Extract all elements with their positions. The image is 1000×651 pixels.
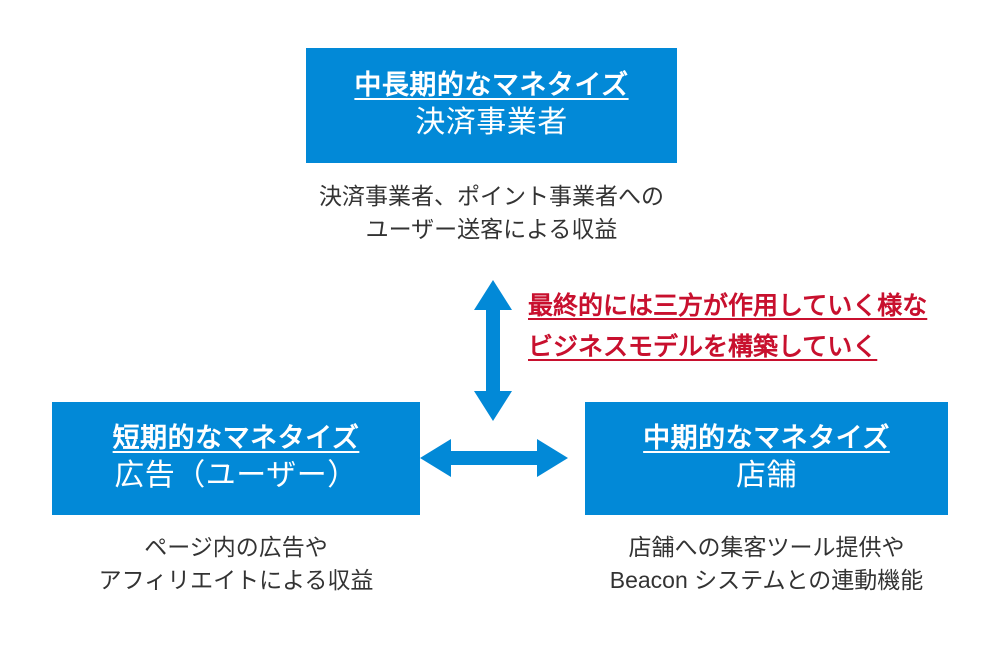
- node-box-right[interactable]: 中期的なマネタイズ 店舗: [585, 402, 948, 515]
- node-box-left[interactable]: 短期的なマネタイズ 広告（ユーザー）: [52, 402, 420, 515]
- annotation-red-note: 最終的には三方が作用していく様な ビジネスモデルを構築していく: [528, 286, 978, 367]
- node-caption-right: 店舗への集客ツール提供や Beacon システムとの連動機能: [570, 531, 963, 598]
- node-subtitle-left: 広告（ユーザー）: [114, 458, 357, 493]
- node-caption-left-line-2: アフィリエイトによる収益: [36, 564, 436, 597]
- node-box-top[interactable]: 中長期的なマネタイズ 決済事業者: [306, 48, 677, 163]
- node-caption-top-line-2: ユーザー送客による収益: [306, 213, 677, 246]
- diagram-canvas: 中長期的なマネタイズ 決済事業者 決済事業者、ポイント事業者への ユーザー送客に…: [0, 0, 1000, 651]
- annotation-line-1: 最終的には三方が作用していく様な: [528, 286, 927, 327]
- node-caption-right-line-1: 店舗への集客ツール提供や: [570, 531, 963, 564]
- annotation-row-1: 最終的には三方が作用していく様な: [528, 286, 978, 327]
- node-title-left: 短期的なマネタイズ: [113, 423, 360, 455]
- annotation-line-2: ビジネスモデルを構築していく: [528, 327, 877, 368]
- node-title-top: 中長期的なマネタイズ: [354, 70, 628, 102]
- double-headed-arrow-vertical-icon: [472, 278, 514, 423]
- node-caption-left: ページ内の広告や アフィリエイトによる収益: [36, 531, 436, 598]
- node-caption-top-line-1: 決済事業者、ポイント事業者への: [306, 180, 677, 213]
- node-caption-left-line-1: ページ内の広告や: [36, 531, 436, 564]
- node-subtitle-right: 店舗: [736, 458, 797, 493]
- node-title-right: 中期的なマネタイズ: [643, 423, 890, 455]
- annotation-row-2: ビジネスモデルを構築していく: [528, 327, 978, 368]
- node-subtitle-top: 決済事業者: [415, 105, 568, 140]
- node-caption-right-line-2: Beacon システムとの連動機能: [570, 564, 963, 597]
- double-headed-arrow-horizontal-icon: [418, 434, 570, 482]
- node-caption-top: 決済事業者、ポイント事業者への ユーザー送客による収益: [306, 180, 677, 247]
